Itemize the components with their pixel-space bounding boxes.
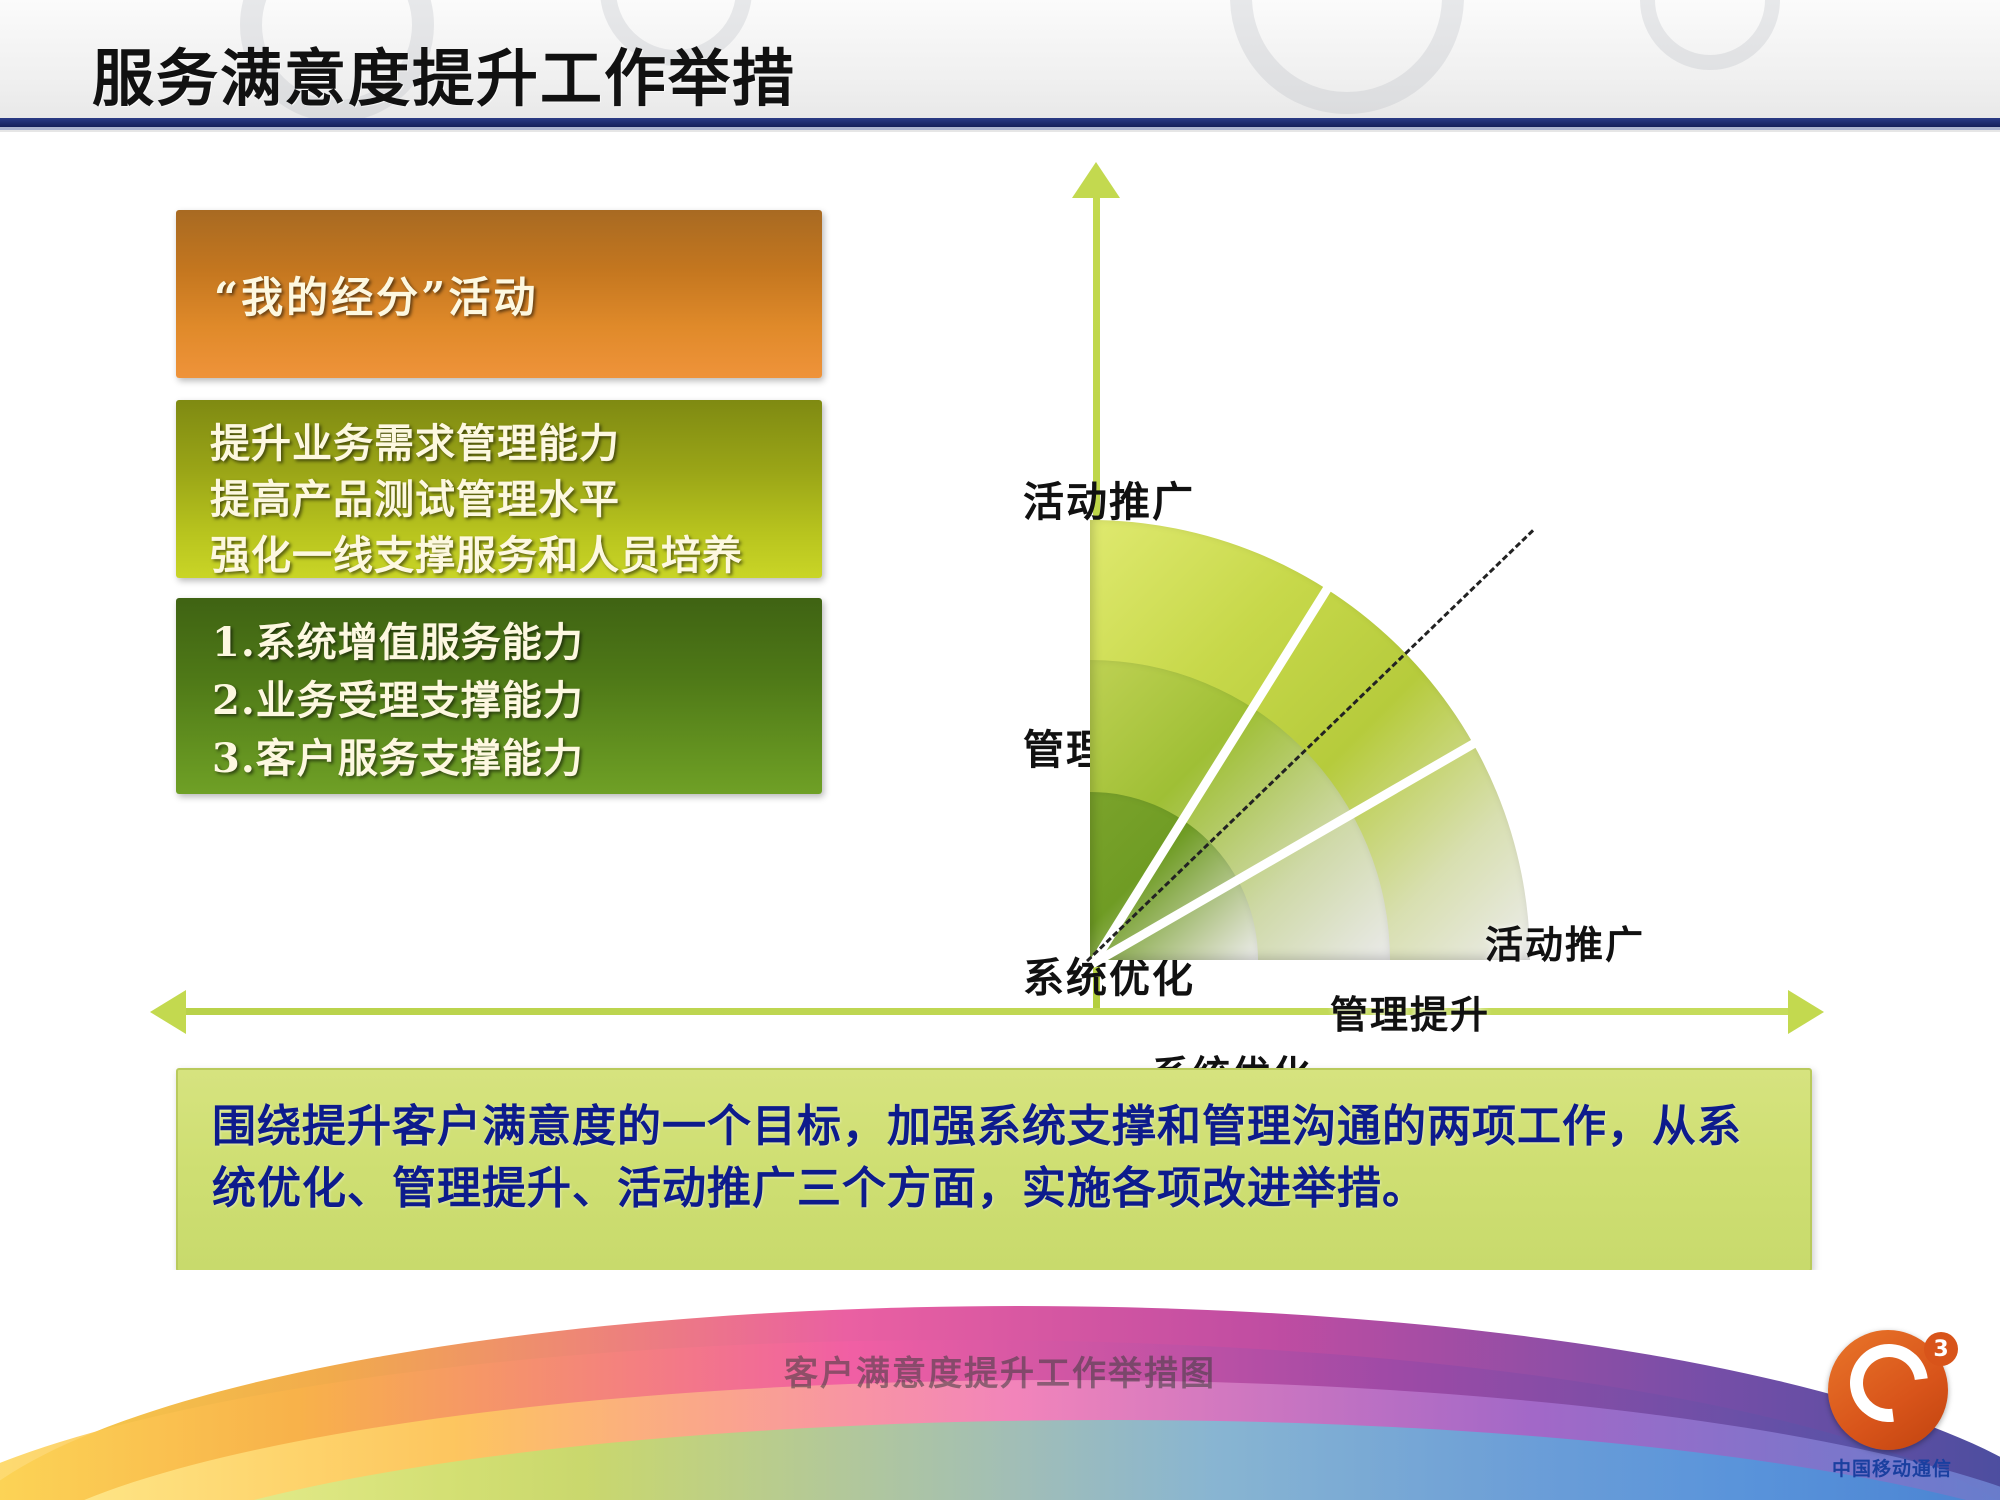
horizontal-axis-arrow-left-icon (150, 990, 186, 1034)
bar-management-improvement-line-3: 强化一线支撑服务和人员培养 (210, 528, 822, 584)
summary-callout: 围绕提升客户满意度的一个目标，加强系统支撑和管理沟通的两项工作，从系统优化、管理… (176, 1068, 1812, 1272)
bar-management-improvement-line-2: 提高产品测试管理水平 (210, 472, 822, 528)
page-title: 服务满意度提升工作举措 (92, 28, 796, 118)
bar-management-improvement[interactable]: 提升业务需求管理能力 提高产品测试管理水平 强化一线支撑服务和人员培养 (176, 400, 822, 578)
bar-activity-promotion-line-1: “我的经分”活动 (214, 264, 538, 325)
bar-activity-promotion[interactable]: “我的经分”活动 (176, 210, 822, 378)
footer-caption: 客户满意度提升工作举措图 (760, 1346, 1240, 1395)
horizontal-axis-arrow-icon (1788, 990, 1824, 1034)
slide-header: 服务满意度提升工作举措 (0, 0, 2000, 150)
bar-system-optimization-line-1: 1.系统增值服务能力 (212, 614, 822, 672)
logo-badge: 3 (1924, 1332, 1958, 1366)
header-divider (0, 118, 2000, 127)
decorative-ring-icon (1230, 0, 1464, 114)
logo-wordmark: 中国移动通信 (1830, 1454, 1954, 1481)
stage-label-activity-promotion: 活动推广 (1023, 468, 1195, 528)
bar-management-improvement-line-1: 提升业务需求管理能力 (210, 416, 822, 472)
fan-label-management-improvement: 管理提升 (1330, 984, 1490, 1039)
fan-label-activity-promotion: 活动推广 (1485, 914, 1645, 969)
header-divider-light (0, 127, 2000, 130)
china-mobile-logo: 3 中国移动通信 (1828, 1330, 1960, 1462)
bar-system-optimization[interactable]: 1.系统增值服务能力 2.业务受理支撑能力 3.客户服务支撑能力 (176, 598, 822, 794)
presentation-slide: 服务满意度提升工作举措 “我的经分”活动 提升业务需求管理能力 提高产品测试管理… (0, 0, 2000, 1500)
bar-system-optimization-line-2: 2.业务受理支撑能力 (212, 672, 822, 730)
bar-system-optimization-line-3: 3.客户服务支撑能力 (212, 730, 822, 788)
decorative-ring-icon (1640, 0, 1780, 70)
